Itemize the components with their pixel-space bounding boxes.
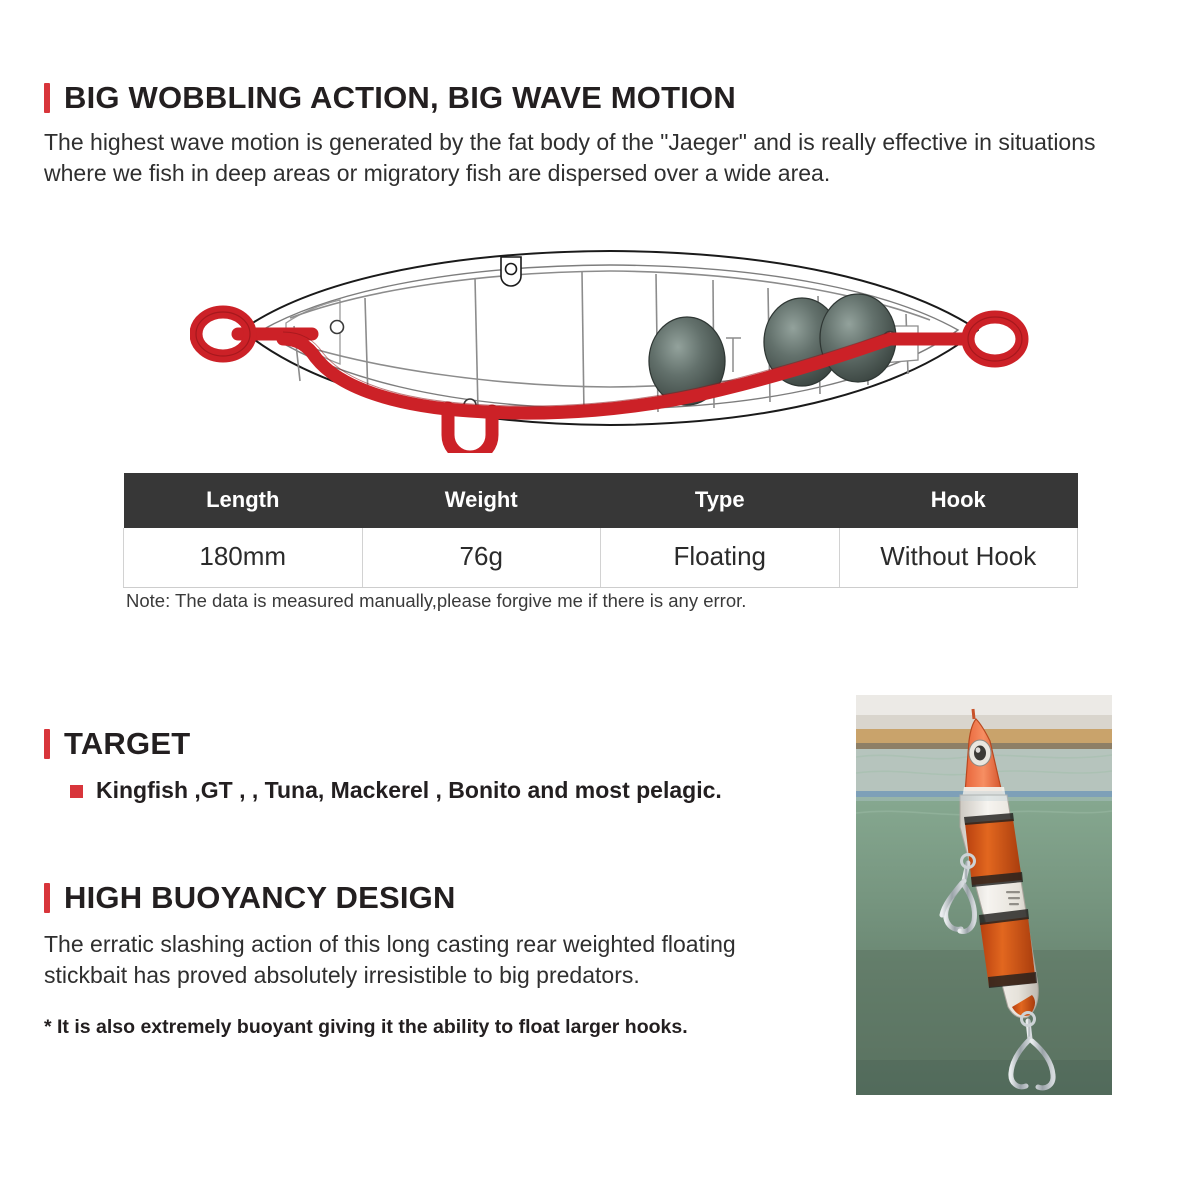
page-title: BIG WOBBLING ACTION, BIG WAVE MOTION xyxy=(64,82,736,113)
accent-bar-icon xyxy=(44,729,50,759)
buoyancy-note: * It is also extremely buoyant giving it… xyxy=(44,1016,814,1039)
section-header-target: TARGET xyxy=(44,728,834,759)
lure-in-water-photo xyxy=(856,695,1112,1095)
square-bullet-icon xyxy=(70,785,83,798)
column-header-hook: Hook xyxy=(839,473,1078,528)
column-header-type: Type xyxy=(601,473,840,528)
section-header: BIG WOBBLING ACTION, BIG WAVE MOTION xyxy=(44,82,1164,113)
spec-table: Length Weight Type Hook 180mm 76g Floati… xyxy=(123,473,1078,588)
section-target: TARGET Kingfish ,GT , , Tuna, Mackerel ,… xyxy=(44,728,834,804)
target-species-list: Kingfish ,GT , , Tuna, Mackerel , Bonito… xyxy=(44,777,834,804)
table-row: 180mm 76g Floating Without Hook xyxy=(124,528,1078,588)
cell-type: Floating xyxy=(601,528,840,588)
section-high-buoyancy: HIGH BUOYANCY DESIGN The erratic slashin… xyxy=(44,882,814,1039)
tail-wire-loop xyxy=(968,317,1022,361)
section-header-buoyancy: HIGH BUOYANCY DESIGN xyxy=(44,882,814,913)
lure-cutaway-diagram xyxy=(190,238,1030,453)
target-title: TARGET xyxy=(64,728,190,759)
cell-hook: Without Hook xyxy=(839,528,1078,588)
photo-top-wall xyxy=(856,695,1112,715)
spec-table-container: Length Weight Type Hook 180mm 76g Floati… xyxy=(123,473,1078,588)
target-species-text: Kingfish ,GT , , Tuna, Mackerel , Bonito… xyxy=(96,777,722,804)
buoyancy-description: The erratic slashing action of this long… xyxy=(44,929,784,990)
table-header-row: Length Weight Type Hook xyxy=(124,473,1078,528)
buoyancy-title: HIGH BUOYANCY DESIGN xyxy=(64,882,456,913)
list-item: Kingfish ,GT , , Tuna, Mackerel , Bonito… xyxy=(70,777,834,804)
spec-table-note: Note: The data is measured manually,plea… xyxy=(126,590,746,612)
column-header-weight: Weight xyxy=(362,473,601,528)
wobble-description: The highest wave motion is generated by … xyxy=(44,127,1156,188)
column-header-length: Length xyxy=(124,473,363,528)
cell-weight: 76g xyxy=(362,528,601,588)
section-big-wobbling-action: BIG WOBBLING ACTION, BIG WAVE MOTION The… xyxy=(44,82,1164,188)
nose-hole xyxy=(331,321,344,334)
infographic-page: BIG WOBBLING ACTION, BIG WAVE MOTION The… xyxy=(0,0,1200,1200)
dorsal-eyelet-icon xyxy=(501,257,521,286)
accent-bar-icon xyxy=(44,883,50,913)
cell-length: 180mm xyxy=(124,528,363,588)
accent-bar-icon xyxy=(44,83,50,113)
